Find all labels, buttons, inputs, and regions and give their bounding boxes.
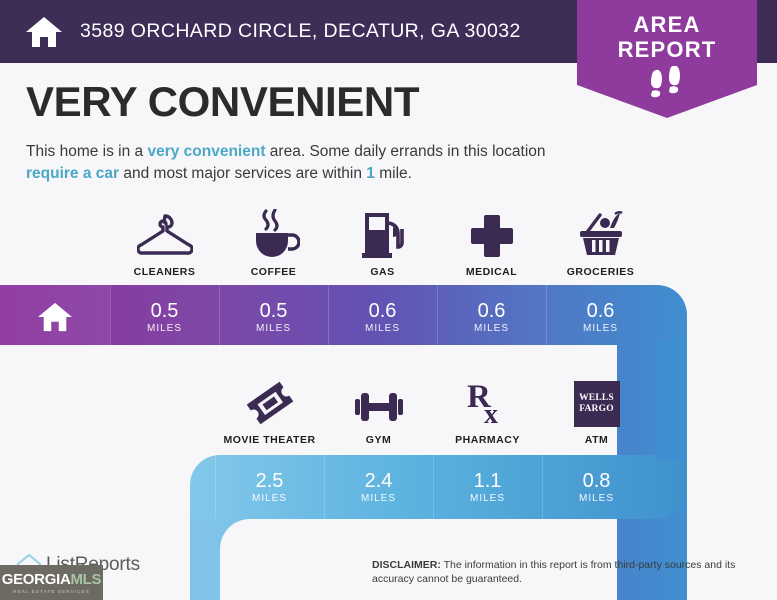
distance-unit: MILES <box>579 493 614 504</box>
service-cell-gym[interactable]: GYM <box>324 375 433 446</box>
home-icon <box>37 301 73 333</box>
dumbbell-icon <box>352 375 406 427</box>
hanger-icon <box>137 207 193 259</box>
distance-unit: MILES <box>256 323 291 334</box>
mls-tagline: REAL ESTATE SERVICES <box>13 589 90 594</box>
service-cell-cleaners[interactable]: CLEANERS <box>110 207 219 278</box>
service-label: GYM <box>366 434 391 446</box>
ribbon-row-1-tail <box>657 340 687 460</box>
gas-pump-icon <box>360 207 406 259</box>
distance-unit: MILES <box>474 323 509 334</box>
distance-value: 0.6 <box>478 301 506 322</box>
distance-value: 2.5 <box>256 471 284 492</box>
distance-cell-groceries[interactable]: 0.6 MILES <box>546 285 655 349</box>
distance-unit: MILES <box>252 493 287 504</box>
mls-name-2: MLS <box>70 571 101 588</box>
distance-bar-row-2: 2.5 MILES 2.4 MILES 1.1 MILES 0.8 MILES <box>215 455 651 519</box>
grocery-basket-icon <box>574 207 628 259</box>
footprints-icon <box>577 66 757 103</box>
distance-cell-medical[interactable]: 0.6 MILES <box>437 285 546 349</box>
distance-cell-cleaners[interactable]: 0.5 MILES <box>110 285 219 349</box>
service-label: ATM <box>585 434 608 446</box>
service-cell-gas[interactable]: GAS <box>328 207 437 278</box>
distance-cell-atm[interactable]: 0.8 MILES <box>542 455 651 519</box>
distance-unit: MILES <box>147 323 182 334</box>
distance-cell-pharmacy[interactable]: 1.1 MILES <box>433 455 542 519</box>
distance-unit: MILES <box>470 493 505 504</box>
distance-value: 1.1 <box>474 471 502 492</box>
movie-ticket-icon <box>245 375 295 427</box>
distance-cell-gas[interactable]: 0.6 MILES <box>328 285 437 349</box>
distance-value: 0.5 <box>151 301 179 322</box>
disclaimer: DISCLAIMER: The information in this repo… <box>372 558 762 586</box>
service-cell-medical[interactable]: MEDICAL <box>437 207 546 278</box>
ribbon-row-2-tail <box>190 519 220 600</box>
wells-fargo-icon: WELLS FARGO <box>574 375 620 427</box>
badge-line-1: AREA <box>577 12 757 37</box>
badge-text: AREA REPORT <box>577 12 757 62</box>
distance-bar-row-1: 0.5 MILES 0.5 MILES 0.6 MILES 0.6 MILES … <box>0 285 655 349</box>
icon-row-2: MOVIE THEATER GYM R x PHARMACY WELLS <box>215 375 651 446</box>
service-cell-movie-theater[interactable]: MOVIE THEATER <box>215 375 324 446</box>
distance-value: 2.4 <box>365 471 393 492</box>
distance-unit: MILES <box>361 493 396 504</box>
service-cell-coffee[interactable]: COFFEE <box>219 207 328 278</box>
service-label: MOVIE THEATER <box>223 434 315 446</box>
distance-value: 0.8 <box>583 471 611 492</box>
service-label: PHARMACY <box>455 434 520 446</box>
service-cell-atm[interactable]: WELLS FARGO ATM <box>542 375 651 446</box>
distance-cell-movie-theater[interactable]: 2.5 MILES <box>215 455 324 519</box>
distance-cell-coffee[interactable]: 0.5 MILES <box>219 285 328 349</box>
distance-unit: MILES <box>365 323 400 334</box>
badge-line-2: REPORT <box>577 37 757 62</box>
atm-logo-line-1: WELLS <box>579 393 614 404</box>
area-report-badge: AREA REPORT <box>577 0 757 118</box>
coffee-cup-icon <box>248 207 300 259</box>
georgia-mls-watermark: GEORGIAMLS REAL ESTATE SERVICES <box>0 565 103 600</box>
distance-unit: MILES <box>583 323 618 334</box>
medical-cross-icon <box>469 207 515 259</box>
service-label: MEDICAL <box>466 266 517 278</box>
disclaimer-label: DISCLAIMER: <box>372 559 441 571</box>
distance-value: 0.6 <box>587 301 615 322</box>
atm-logo-line-2: FARGO <box>579 404 614 415</box>
icon-row-1: CLEANERS COFFEE GAS <box>110 207 655 278</box>
svg-text:x: x <box>484 399 498 427</box>
service-cell-pharmacy[interactable]: R x PHARMACY <box>433 375 542 446</box>
service-cell-groceries[interactable]: GROCERIES <box>546 207 655 278</box>
distance-cell-gym[interactable]: 2.4 MILES <box>324 455 433 519</box>
rx-icon: R x <box>465 375 511 427</box>
service-label: COFFEE <box>251 266 297 278</box>
home-origin-cell <box>0 285 110 349</box>
service-label: GAS <box>370 266 394 278</box>
mls-name-1: GEORGIA <box>2 571 71 588</box>
distance-value: 0.5 <box>260 301 288 322</box>
distance-value: 0.6 <box>369 301 397 322</box>
service-label: CLEANERS <box>134 266 196 278</box>
service-label: GROCERIES <box>567 266 635 278</box>
